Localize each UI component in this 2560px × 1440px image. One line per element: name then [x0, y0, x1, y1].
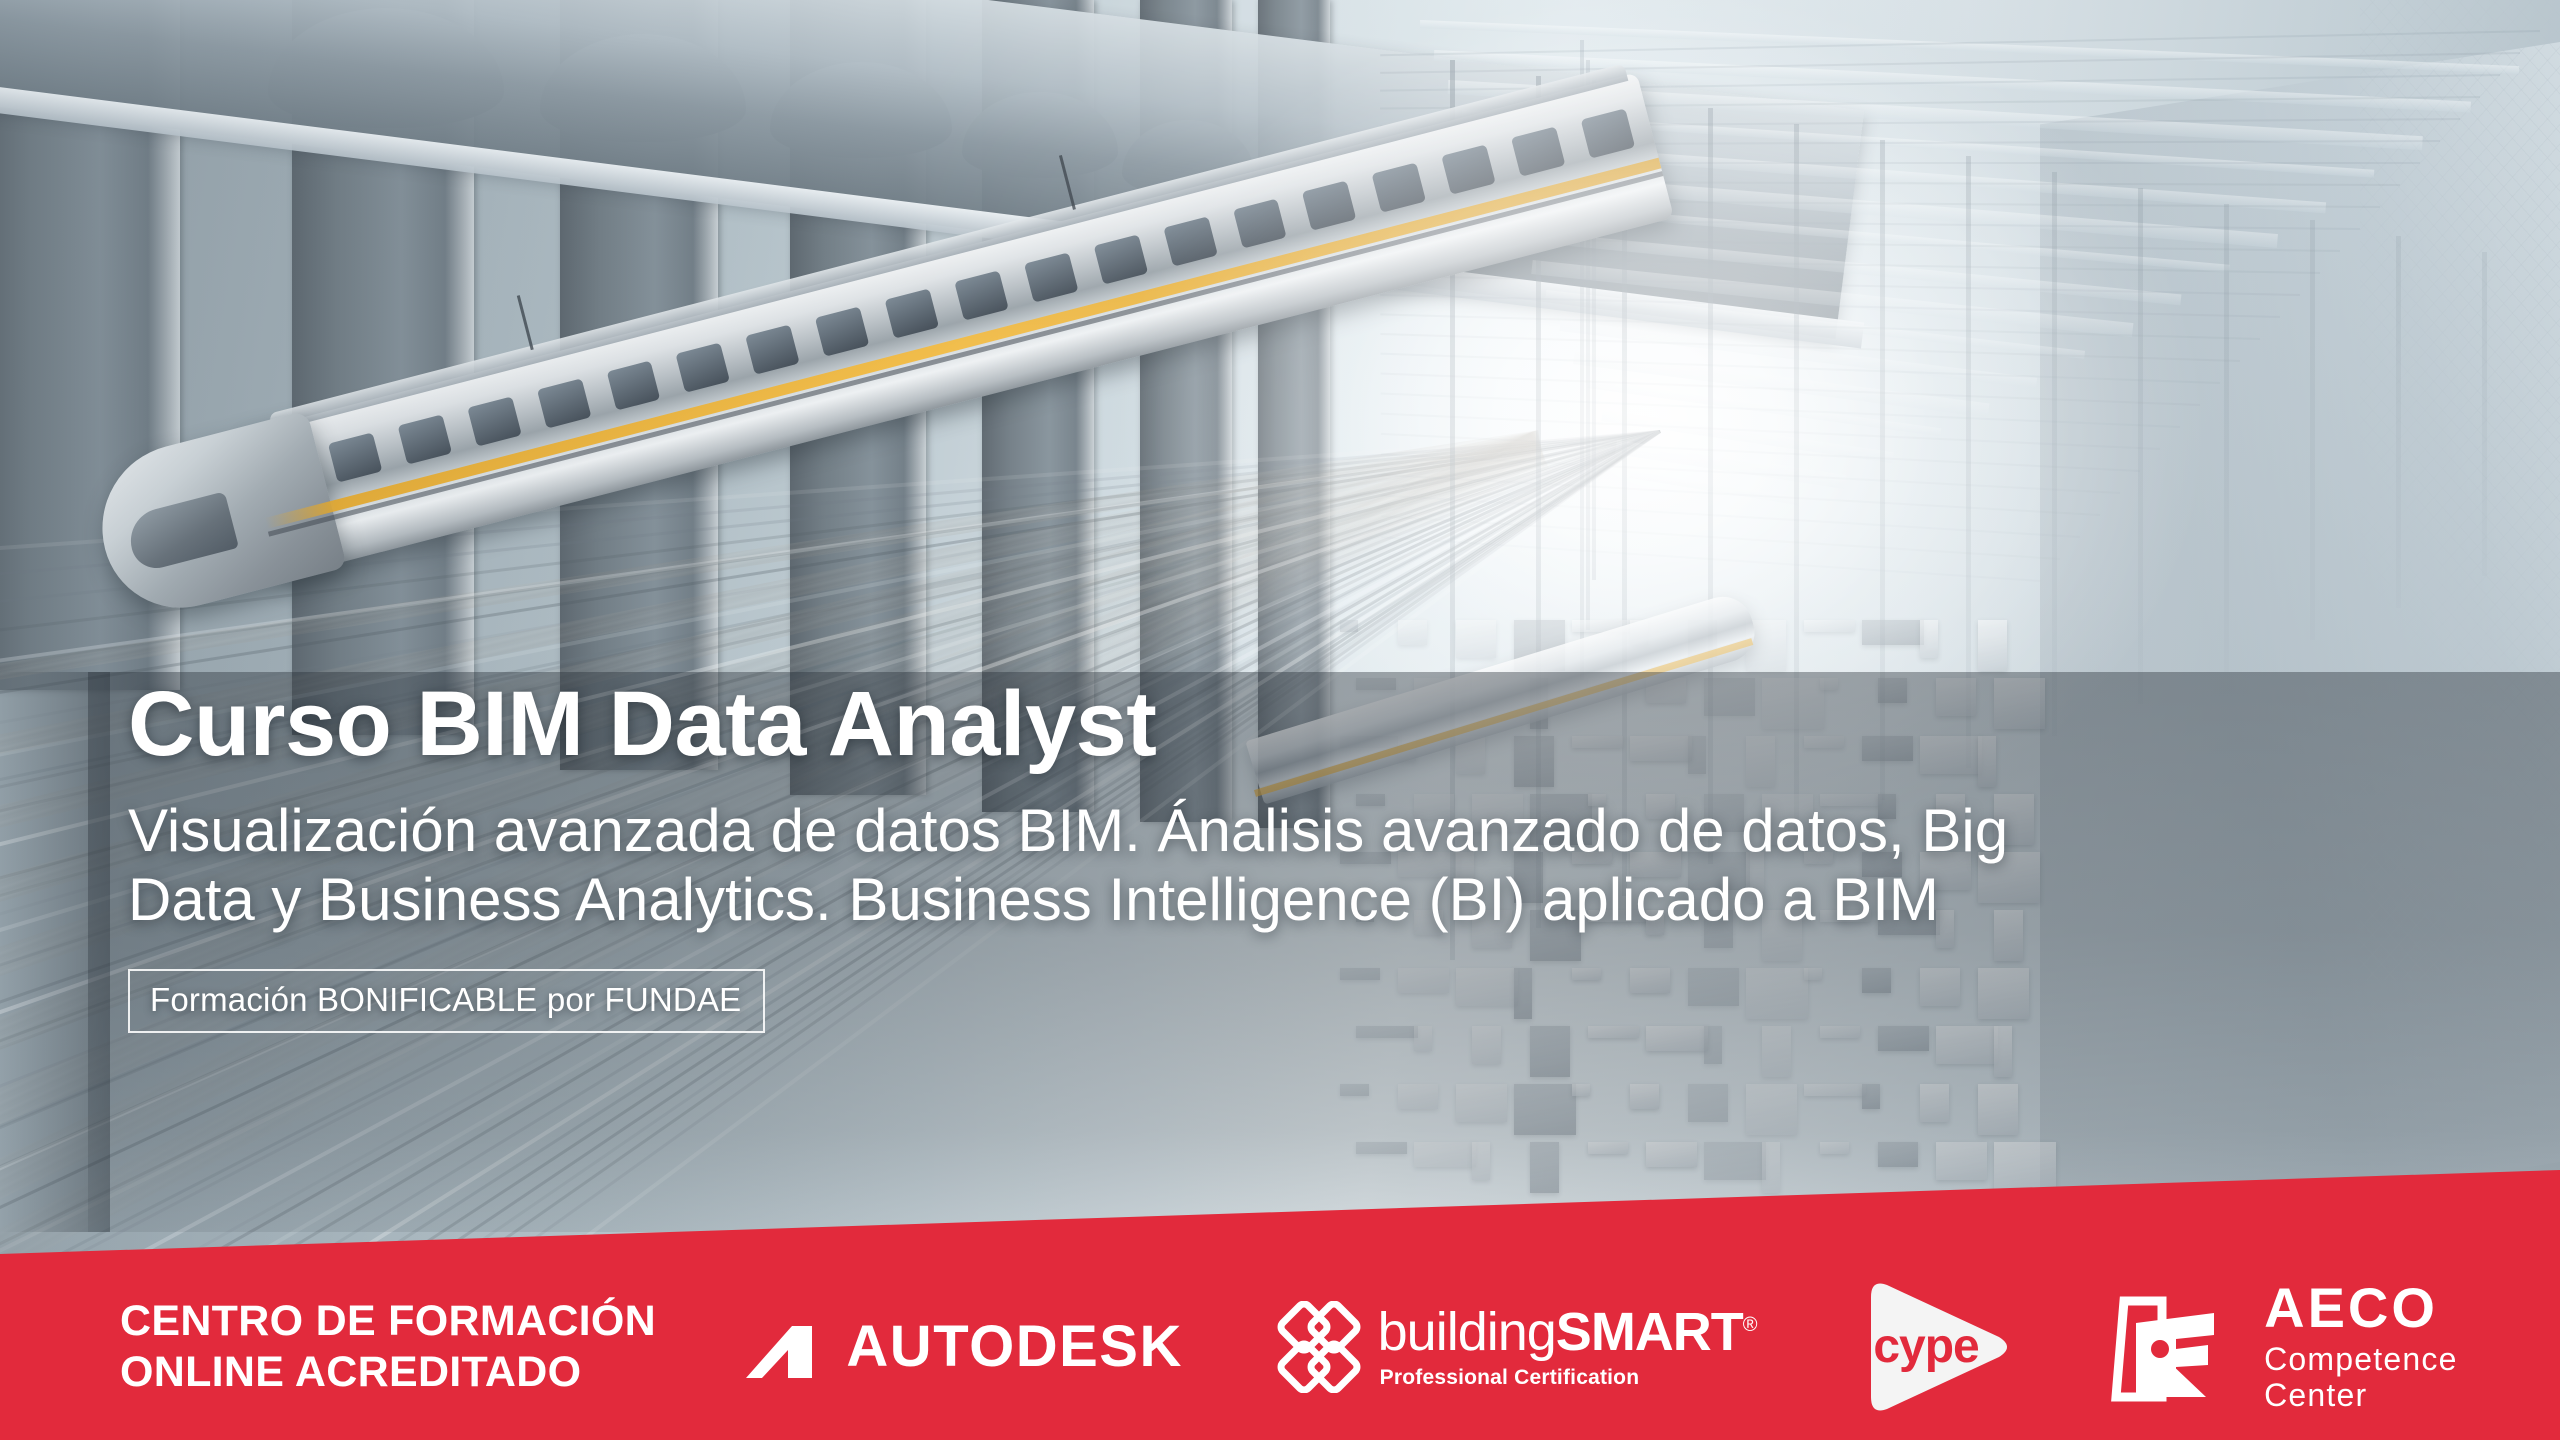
hero-copy: Curso BIM Data Analyst Visualización ava… — [128, 676, 2188, 1033]
buildingsmart-word-light: building — [1378, 1302, 1556, 1362]
train-cab-window — [124, 491, 239, 573]
course-subtitle: Visualización avanzada de datos BIM. Ána… — [128, 796, 2088, 935]
autodesk-a-mark — [742, 1316, 826, 1378]
autodesk-wordmark: AUTODESK — [846, 1318, 1182, 1376]
logo-buildingsmart[interactable]: buildingSMART® Professional Certificatio… — [1276, 1301, 1757, 1393]
footer-content: CENTRO DE FORMACIÓN ONLINE ACREDITADO AU… — [0, 1254, 2560, 1440]
aeco-subtitle: Competence Center — [2264, 1342, 2457, 1414]
aeco-sub-line-1: Competence — [2264, 1342, 2457, 1378]
accreditation-line-2: ONLINE ACREDITADO — [120, 1347, 656, 1398]
buildingsmart-tagline: Professional Certification — [1378, 1366, 1757, 1390]
buildingsmart-knot-mark — [1276, 1301, 1362, 1393]
page-title: Curso BIM Data Analyst — [128, 676, 2188, 774]
accreditation-line-1: CENTRO DE FORMACIÓN — [120, 1296, 656, 1347]
fundae-badge: Formación BONIFICABLE por FUNDAE — [128, 969, 765, 1033]
partner-logos: AUTODESK — [656, 1277, 2504, 1417]
logo-aeco[interactable]: AECO Competence Center — [2110, 1280, 2457, 1414]
course-banner: Curso BIM Data Analyst Visualización ava… — [0, 0, 2560, 1440]
buildingsmart-text: buildingSMART® Professional Certificatio… — [1378, 1305, 1757, 1390]
buildingsmart-wordmark: buildingSMART® — [1378, 1305, 1757, 1359]
logo-autodesk[interactable]: AUTODESK — [742, 1316, 1182, 1378]
aeco-title: AECO — [2264, 1280, 2457, 1336]
buildingsmart-word-bold: SMART — [1556, 1302, 1743, 1362]
cype-wordmark: cype — [1873, 1323, 1978, 1371]
accreditation-text: CENTRO DE FORMACIÓN ONLINE ACREDITADO — [120, 1296, 656, 1397]
logo-cype[interactable]: cype — [1849, 1277, 2017, 1417]
registered-mark: ® — [1743, 1314, 1757, 1336]
rf-monogram-mark — [2110, 1287, 2242, 1407]
aeco-text: AECO Competence Center — [2264, 1280, 2457, 1414]
aeco-sub-line-2: Center — [2264, 1378, 2457, 1414]
